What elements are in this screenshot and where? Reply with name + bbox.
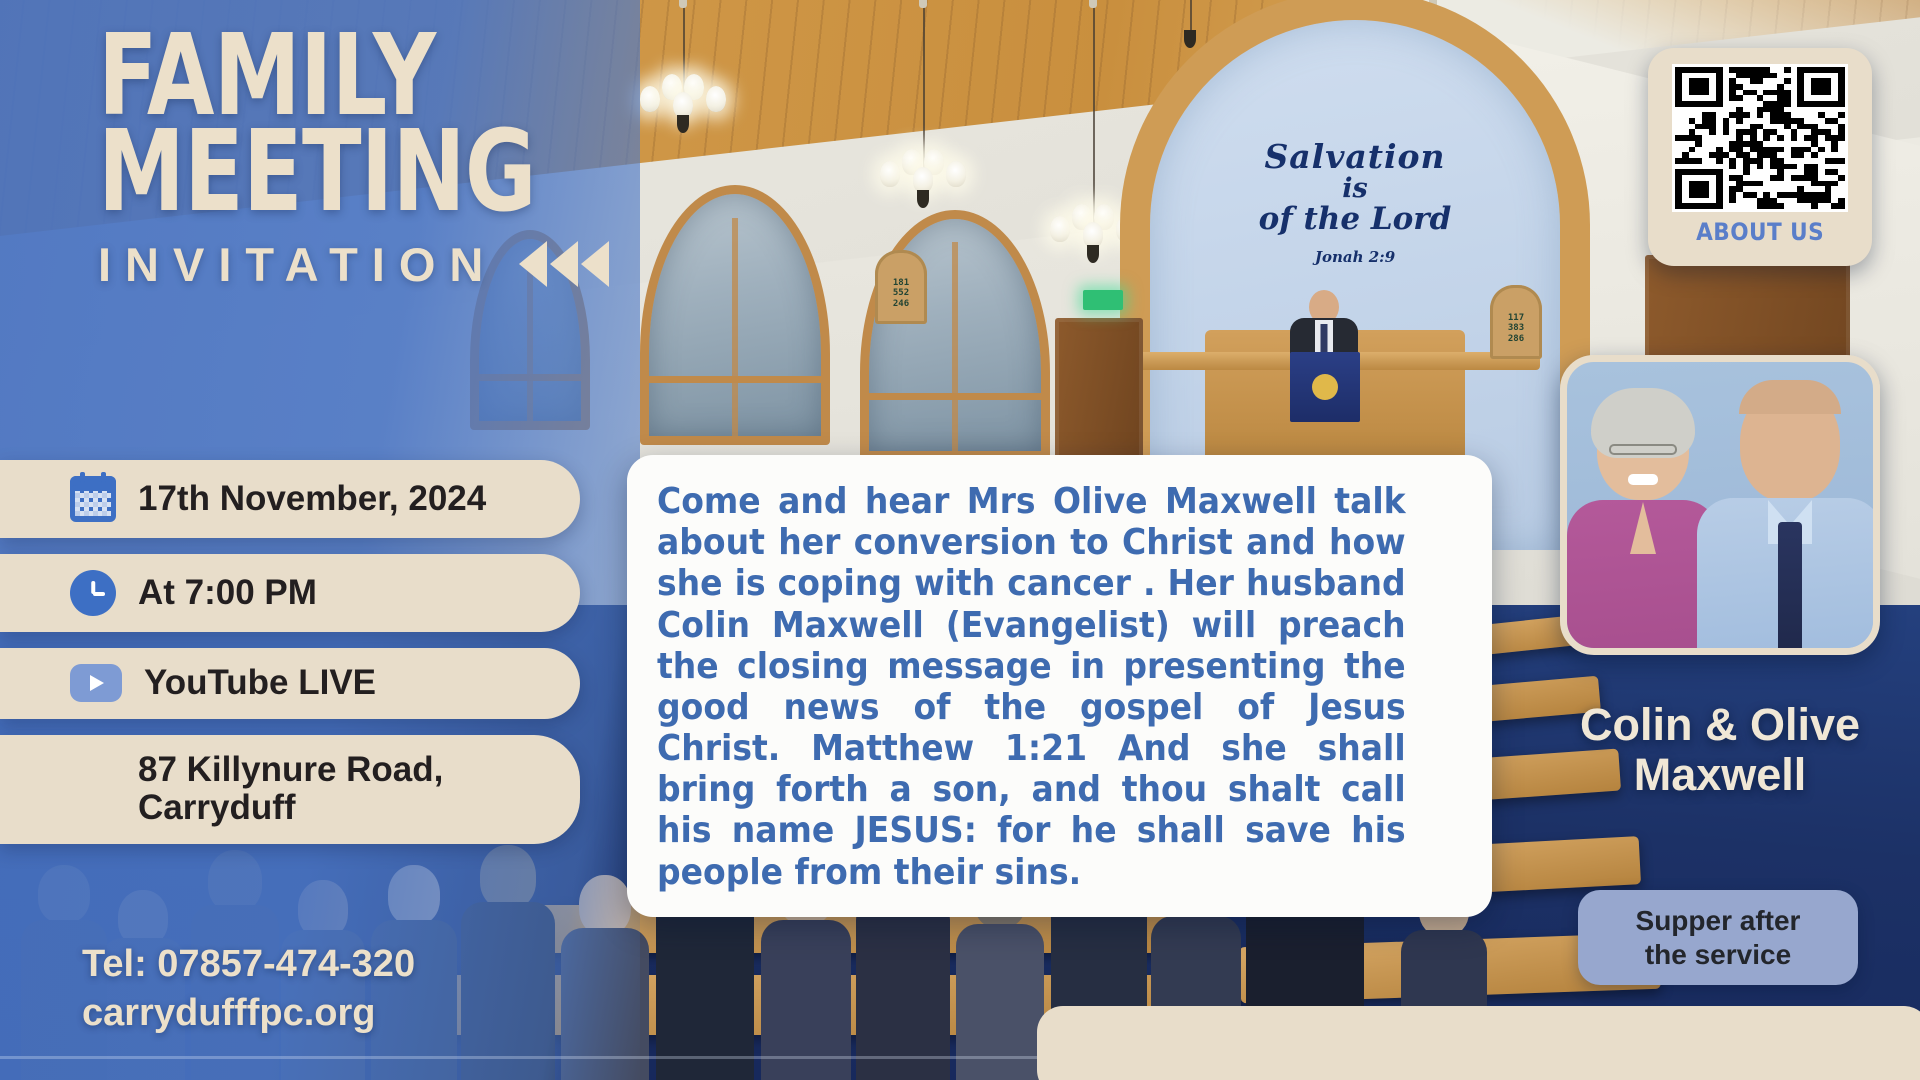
youtube-icon <box>70 664 122 702</box>
hymn-board: 181552246 <box>875 250 927 324</box>
info-pill-time[interactable]: At 7:00 PM <box>0 554 580 632</box>
man-figure <box>1695 376 1880 655</box>
speaker-names: Colin & Olive Maxwell <box>1560 700 1880 801</box>
supper-badge-line-1: Supper after <box>1588 904 1848 938</box>
info-pill-address-label: 87 Killynure Road, Carryduff <box>138 751 550 828</box>
poster-canvas: Salvation is of the Lord Jonah 2:9 11738… <box>0 0 1920 1080</box>
supper-badge-line-2: the service <box>1588 938 1848 972</box>
arch-scripture-text: Salvation is of the Lord Jonah 2:9 <box>1150 140 1560 265</box>
contact-block: Tel: 07857-474-320 carrydufffpc.org <box>82 940 415 1039</box>
info-pill-date[interactable]: 17th November, 2024 <box>0 460 580 538</box>
arch-line-1: Salvation <box>1150 140 1560 175</box>
title-line-2: MEETING <box>98 124 536 220</box>
clock-icon <box>70 570 116 616</box>
qr-card[interactable]: ABOUT US <box>1648 48 1872 266</box>
headline-block: FAMILY MEETING INVITATION <box>98 28 659 292</box>
subtitle: INVITATION <box>98 237 497 292</box>
supper-badge: Supper after the service <box>1578 890 1858 985</box>
subtitle-row: INVITATION <box>98 237 659 292</box>
qr-code-icon[interactable] <box>1672 64 1848 212</box>
info-pill-date-label: 17th November, 2024 <box>138 480 486 519</box>
location-pin-icon <box>70 763 116 815</box>
pulpit-cloth <box>1290 352 1360 422</box>
info-pill-address[interactable]: 87 Killynure Road, Carryduff <box>0 735 580 844</box>
info-pill-time-label: At 7:00 PM <box>138 574 317 613</box>
qr-card-label: ABOUT US <box>1696 218 1824 246</box>
side-door <box>1055 318 1143 468</box>
telephone-text[interactable]: Tel: 07857-474-320 <box>82 940 415 989</box>
hymn-board-numbers: 117383286 <box>1490 313 1542 344</box>
arch-line-3: of the Lord <box>1150 203 1560 236</box>
hymn-board-numbers: 181552246 <box>875 278 927 309</box>
couple-portrait-photo <box>1560 355 1880 655</box>
info-pill-list: 17th November, 2024 At 7:00 PM YouTube L… <box>0 460 580 860</box>
arch-reference: Jonah 2:9 <box>1150 250 1560 266</box>
bottom-cream-bar <box>1037 1006 1920 1080</box>
hymn-board: 117383286 <box>1490 285 1542 359</box>
info-pill-stream[interactable]: YouTube LIVE <box>0 648 580 719</box>
calendar-icon <box>70 476 116 522</box>
message-body: Come and hear Mrs Olive Maxwell talk abo… <box>657 481 1406 893</box>
rewind-triangles-icon <box>519 241 609 287</box>
website-text[interactable]: carrydufffpc.org <box>82 989 415 1038</box>
arch-line-2: is <box>1150 175 1560 203</box>
message-card: Come and hear Mrs Olive Maxwell talk abo… <box>627 455 1492 917</box>
exit-sign-icon <box>1083 290 1123 310</box>
chandelier-icon <box>880 0 966 195</box>
info-pill-stream-label: YouTube LIVE <box>144 664 376 703</box>
